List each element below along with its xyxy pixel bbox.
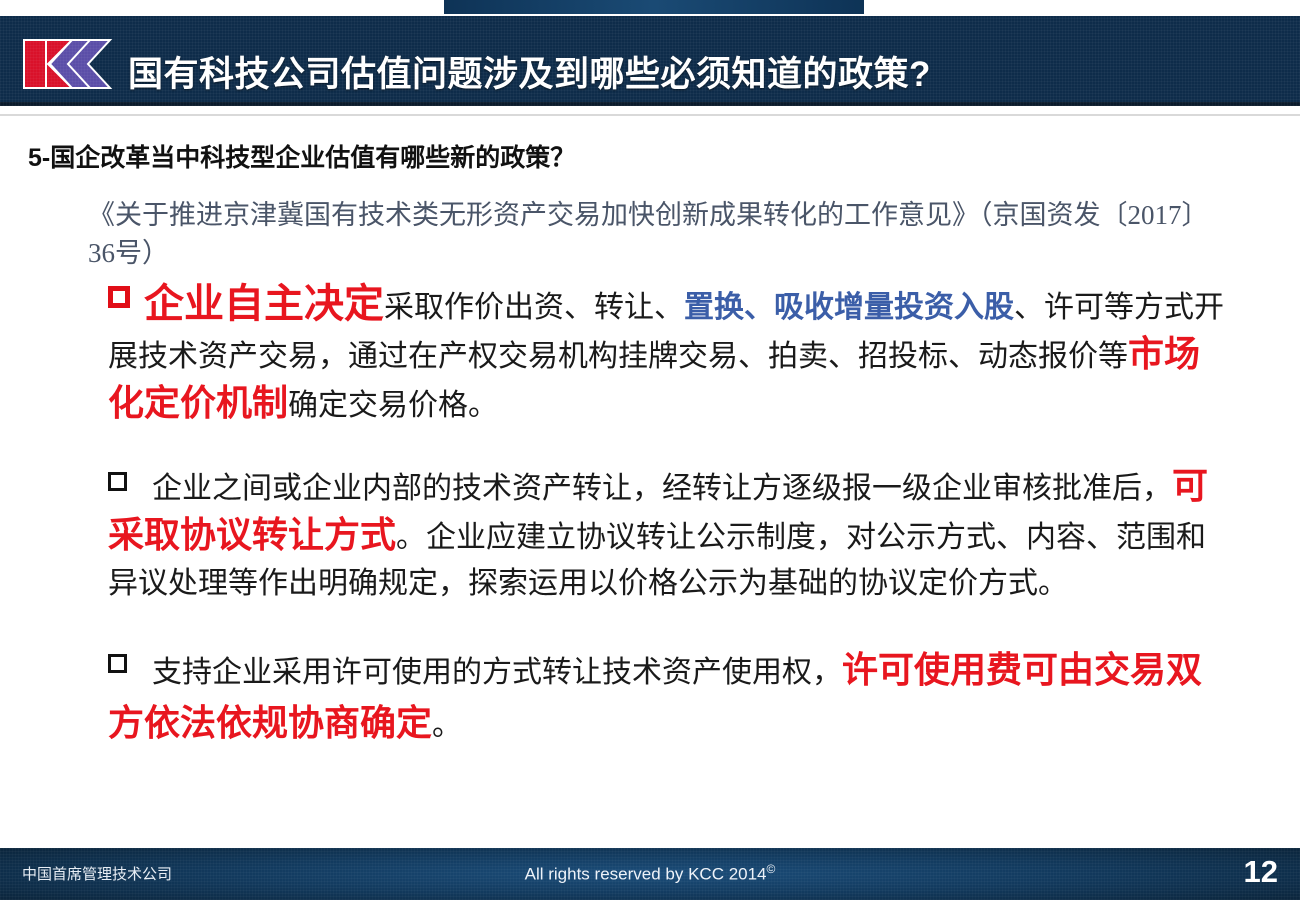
red-square-bullet-icon [108, 286, 130, 308]
slide-body: 5-国企改革当中科技型企业估值有哪些新的政策？ 《关于推进京津冀国有技术类无形资… [0, 118, 1300, 840]
footer-copyright-text: All rights reserved by KCC 2014 [525, 865, 767, 884]
footer-top-rule [0, 842, 1300, 848]
black-square-bullet-icon [108, 472, 127, 491]
kcc-logo [22, 38, 114, 90]
bullet-1-seg-0: 企业自主决定 [144, 281, 384, 326]
copyright-icon: © [767, 862, 776, 876]
document-citation: 《关于推进京津冀国有技术类无形资产交易加快创新成果转化的工作意见》（京国资发〔2… [88, 196, 1218, 272]
bullet-text: 支持企业采用许可使用的方式转让技术资产使用权，许可使用费可由交易双方依法依规协商… [108, 645, 1233, 751]
page-number: 12 [1244, 854, 1278, 890]
black-square-bullet-icon [108, 654, 127, 673]
footer-copyright: All rights reserved by KCC 2014© [0, 862, 1300, 885]
section-subheading: 5-国企改革当中科技型企业估值有哪些新的政策？ [28, 138, 575, 174]
top-strip-bar [444, 0, 864, 14]
page-title: 国有科技公司估值问题涉及到哪些必须知道的政策? [128, 46, 931, 97]
top-strip [0, 0, 1300, 16]
bullet-list: 企业自主决定采取作价出资、转让、置换、吸收增量投资入股、许可等方式开展技术资产交… [108, 280, 1233, 773]
list-item: 支持企业采用许可使用的方式转让技术资产使用权，许可使用费可由交易双方依法依规协商… [108, 645, 1233, 751]
slide-header: 国有科技公司估值问题涉及到哪些必须知道的政策? [0, 16, 1300, 106]
list-item: 企业自主决定采取作价出资、转让、置换、吸收增量投资入股、许可等方式开展技术资产交… [108, 280, 1233, 429]
bullet-3-seg-2: 。 [432, 709, 462, 742]
bullet-text: 企业自主决定采取作价出资、转让、置换、吸收增量投资入股、许可等方式开展技术资产交… [108, 280, 1233, 429]
bullet-2-seg-0: 企业之间或企业内部的技术资产转让，经转让方逐级报一级企业审核批准后， [152, 472, 1172, 505]
bullet-3-seg-0: 支持企业采用许可使用的方式转让技术资产使用权， [152, 656, 842, 689]
bullet-1-seg-2: 置换、吸收增量投资入股 [684, 291, 1014, 324]
slide-footer: 中国首席管理技术公司 All rights reserved by KCC 20… [0, 842, 1300, 900]
list-item: 企业之间或企业内部的技术资产转让，经转让方逐级报一级企业审核批准后，可采取协议转… [108, 463, 1233, 607]
bullet-text: 企业之间或企业内部的技术资产转让，经转让方逐级报一级企业审核批准后，可采取协议转… [108, 463, 1233, 607]
header-separator [0, 106, 1300, 116]
bullet-1-seg-5: 确定交易价格。 [288, 389, 498, 422]
slide: 国有科技公司估值问题涉及到哪些必须知道的政策? 5-国企改革当中科技型企业估值有… [0, 0, 1300, 900]
bullet-1-seg-1: 采取作价出资、转让、 [384, 291, 684, 324]
